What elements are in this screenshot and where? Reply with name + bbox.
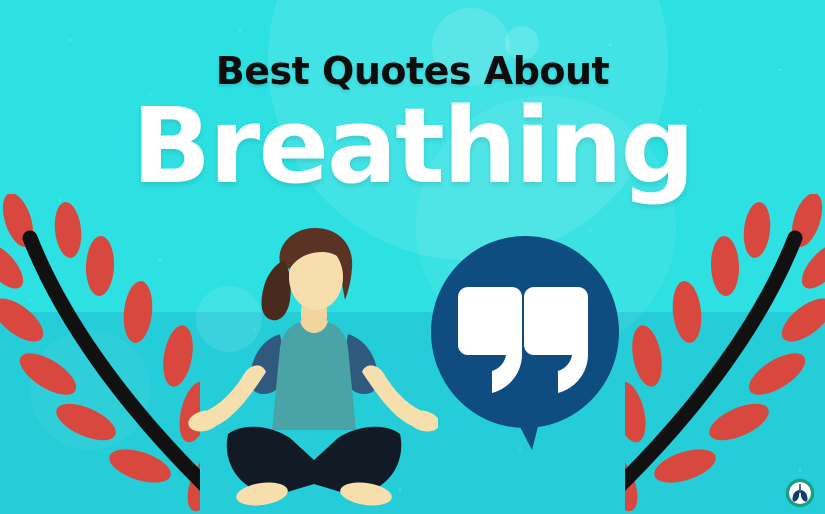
meditating-woman-illustration — [188, 222, 438, 512]
title-block: Best Quotes About Breathing — [0, 52, 825, 198]
quotation-speech-bubble — [428, 235, 623, 470]
banner-graphic: Best Quotes About Breathing — [0, 0, 825, 514]
lungs-logo-icon[interactable] — [785, 478, 815, 508]
page-title: Breathing — [0, 94, 825, 198]
tank-top — [272, 320, 356, 430]
